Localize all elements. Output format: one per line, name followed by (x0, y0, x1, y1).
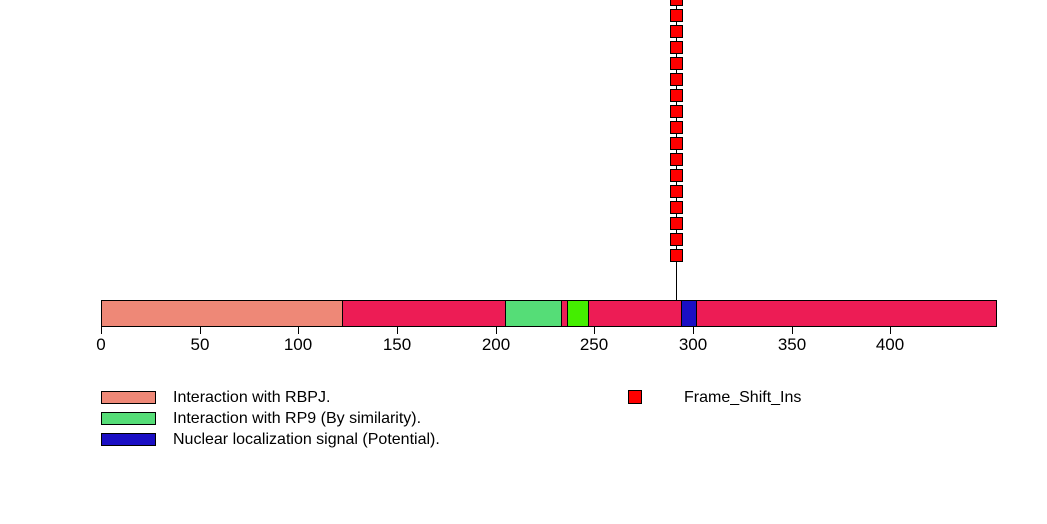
axis-tick (298, 327, 299, 334)
axis-tick-label: 250 (554, 335, 634, 355)
axis-tick (890, 327, 891, 334)
axis-tick (594, 327, 595, 334)
lollipop-marker[interactable] (670, 233, 683, 246)
axis-tick (792, 327, 793, 334)
axis-tick-label: 400 (850, 335, 930, 355)
lollipop-marker[interactable] (670, 25, 683, 38)
legend-label: Interaction with RP9 (By similarity). (173, 409, 421, 429)
axis-tick (397, 327, 398, 334)
lollipop-group-frame-shift-ins (0, 0, 1047, 320)
legend-swatch (101, 391, 156, 404)
lollipop-marker[interactable] (670, 249, 683, 262)
legend-swatch (101, 433, 156, 446)
legend-label: Frame_Shift_Ins (684, 388, 801, 408)
lollipop-marker[interactable] (670, 169, 683, 182)
domain-interaction-rp9-b[interactable] (567, 301, 589, 326)
lollipop-marker[interactable] (670, 73, 683, 86)
domain-interaction-rbpj[interactable] (101, 301, 343, 326)
domain-nuclear-localization-signal[interactable] (681, 301, 697, 326)
lollipop-marker[interactable] (670, 121, 683, 134)
lollipop-marker[interactable] (670, 9, 683, 22)
lollipop-marker[interactable] (670, 41, 683, 54)
domain-interaction-rp9-a[interactable] (505, 301, 562, 326)
legend-item[interactable]: Nuclear localization signal (Potential). (101, 430, 521, 450)
legend-label: Interaction with RBPJ. (173, 388, 330, 408)
lollipop-marker[interactable] (670, 217, 683, 230)
axis-tick-label: 50 (160, 335, 240, 355)
legend-item[interactable]: Interaction with RBPJ. (101, 388, 521, 408)
lollipop-marker[interactable] (670, 0, 683, 6)
lollipop-marker[interactable] (670, 201, 683, 214)
axis-tick-label: 150 (357, 335, 437, 355)
axis-tick-label: 100 (258, 335, 338, 355)
lollipop-marker[interactable] (670, 105, 683, 118)
protein-backbone[interactable] (101, 300, 997, 327)
lollipop-marker[interactable] (670, 185, 683, 198)
legend-item[interactable]: Frame_Shift_Ins (628, 388, 928, 408)
axis-tick-label: 300 (653, 335, 733, 355)
axis-tick-label: 0 (61, 335, 141, 355)
legend-swatch (101, 412, 156, 425)
axis-tick (496, 327, 497, 334)
lollipop-marker[interactable] (670, 137, 683, 150)
legend-swatch (628, 390, 642, 404)
axis-tick (101, 327, 102, 334)
lollipop-marker[interactable] (670, 153, 683, 166)
axis-tick-label: 200 (456, 335, 536, 355)
legend-label: Nuclear localization signal (Potential). (173, 430, 440, 450)
axis-tick (200, 327, 201, 334)
lollipop-marker[interactable] (670, 89, 683, 102)
axis-tick (693, 327, 694, 334)
protein-lollipop-diagram: 050100150200250300350400 Interaction wit… (0, 0, 1047, 524)
legend-item[interactable]: Interaction with RP9 (By similarity). (101, 409, 521, 429)
axis-tick-label: 350 (752, 335, 832, 355)
lollipop-marker[interactable] (670, 57, 683, 70)
